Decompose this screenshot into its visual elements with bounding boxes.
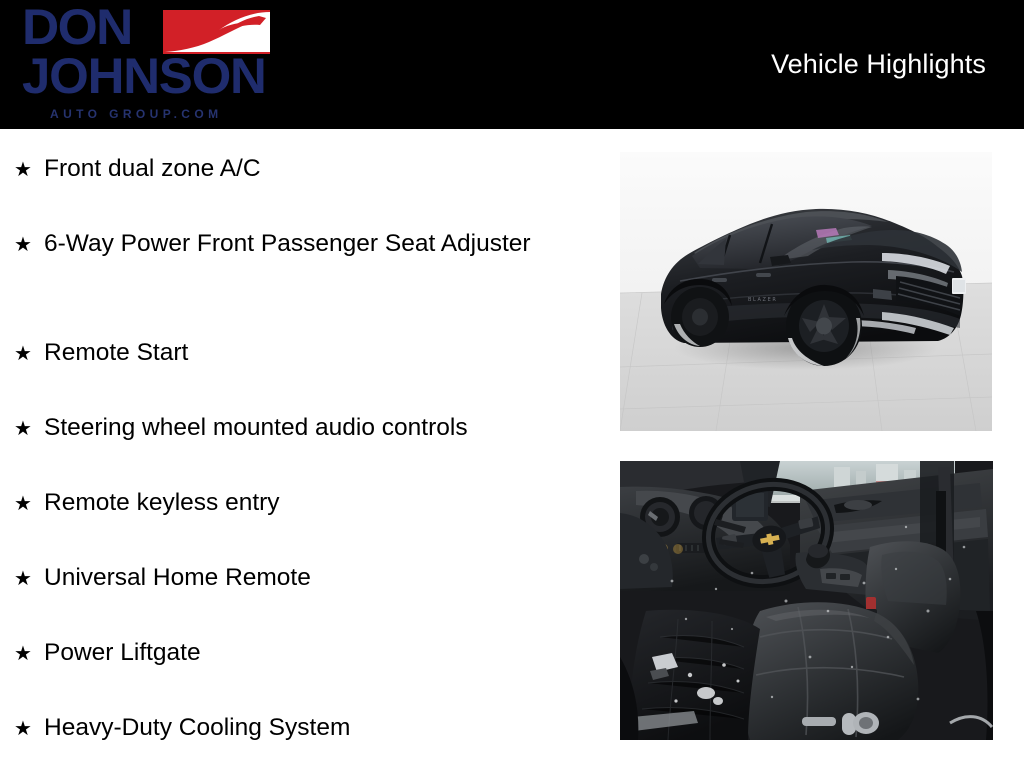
svg-text:BLAZER: BLAZER	[748, 297, 777, 303]
list-item: ★ Power Liftgate	[14, 636, 589, 670]
star-icon: ★	[14, 711, 44, 745]
list-item-label: 6-Way Power Front Passenger Seat Adjuste…	[44, 227, 531, 261]
list-item-label: Heavy-Duty Cooling System	[44, 711, 350, 745]
list-item-label: Front dual zone A/C	[44, 152, 261, 186]
list-item-label: Remote keyless entry	[44, 486, 280, 520]
star-icon: ★	[14, 336, 44, 370]
list-item-label: Power Liftgate	[44, 636, 201, 670]
list-item: ★ Remote Start	[14, 336, 589, 370]
star-icon: ★	[14, 636, 44, 670]
page-header: DON JOHNSON AUTO GROUP.COM Vehicle Highl…	[0, 0, 1024, 129]
list-item: ★ Front dual zone A/C	[14, 152, 589, 186]
page-title: Vehicle Highlights	[771, 49, 986, 80]
vehicle-highlights-list: ★ Front dual zone A/C ★ 6-Way Power Fron…	[0, 129, 600, 768]
logo-tagline: AUTO GROUP.COM	[50, 107, 223, 121]
list-item: ★ Remote keyless entry	[14, 486, 589, 520]
interior-photo-image	[620, 461, 993, 740]
star-icon: ★	[14, 561, 44, 595]
star-icon: ★	[14, 227, 44, 261]
vehicle-interior-photo[interactable]	[620, 461, 993, 740]
list-item-label: Remote Start	[44, 336, 188, 370]
logo-text-johnson: JOHNSON	[22, 48, 266, 104]
list-item-label: Steering wheel mounted audio controls	[44, 411, 468, 445]
list-item: ★ Heavy-Duty Cooling System	[14, 711, 589, 745]
star-icon: ★	[14, 486, 44, 520]
list-item: ★ Steering wheel mounted audio controls	[14, 411, 589, 445]
dealer-logo[interactable]: DON JOHNSON AUTO GROUP.COM	[22, 4, 272, 126]
list-item: ★ 6-Way Power Front Passenger Seat Adjus…	[14, 227, 589, 261]
star-icon: ★	[14, 411, 44, 445]
logo-text-don: DON	[22, 1, 132, 53]
exterior-photo-image: BLAZER	[620, 152, 992, 431]
star-icon: ★	[14, 152, 44, 186]
list-item: ★ Universal Home Remote	[14, 561, 589, 595]
vehicle-exterior-photo[interactable]: BLAZER	[620, 152, 992, 431]
list-item-label: Universal Home Remote	[44, 561, 311, 595]
